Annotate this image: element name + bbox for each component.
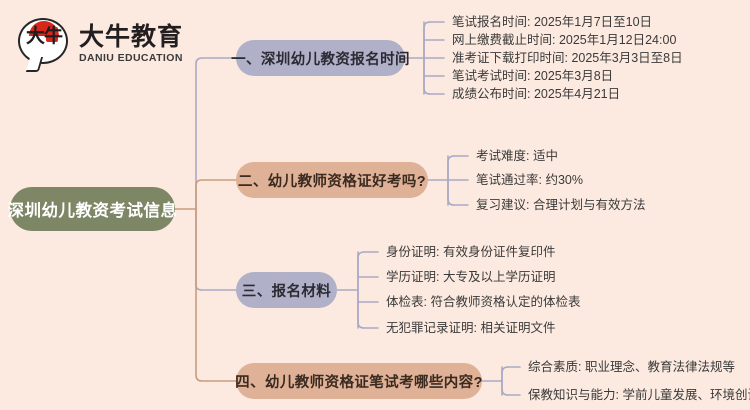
branch-node-1[interactable]: 一、深圳幼儿教资报名时间 [236, 40, 405, 76]
leaf-item: 笔试考试时间: 2025年3月8日 [452, 70, 613, 83]
logo-title: 大牛教育 [79, 24, 183, 50]
bubble-tail-shape [26, 57, 43, 72]
mindmap-canvas: 大牛 大牛教育 DANIU EDUCATION [0, 0, 750, 410]
leaf-item: 无犯罪记录证明: 相关证明文件 [386, 322, 555, 335]
leaf-item: 网上缴费截止时间: 2025年1月12日24:00 [452, 34, 676, 47]
logo-mark-text: 大牛 [24, 29, 64, 59]
leaf-item: 保教知识与能力: 学前儿童发展、环境创设等 [528, 389, 750, 402]
leaf-item: 准考证下载打印时间: 2025年3月3日至8日 [452, 52, 683, 65]
logo-subtitle: DANIU EDUCATION [79, 52, 183, 64]
root-node[interactable]: 深圳幼儿教资考试信息 [10, 187, 175, 231]
leaf-item: 身份证明: 有效身份证件复印件 [386, 246, 555, 259]
leaf-item: 成绩公布时间: 2025年4月21日 [452, 88, 620, 101]
brand-logo: 大牛 大牛教育 DANIU EDUCATION [18, 18, 183, 70]
leaf-item: 学历证明: 大专及以上学历证明 [386, 271, 555, 284]
leaf-item: 笔试通过率: 约30% [476, 174, 583, 187]
logo-wordmark: 大牛教育 DANIU EDUCATION [79, 24, 183, 63]
branch-node-4[interactable]: 四、幼儿教师资格证笔试考哪些内容? [236, 363, 482, 399]
leaf-item: 考试难度: 适中 [476, 150, 558, 163]
branch-node-3[interactable]: 三、报名材料 [236, 272, 337, 308]
leaf-item: 笔试报名时间: 2025年1月7日至10日 [452, 16, 652, 29]
speech-bubble-logo-icon: 大牛 [18, 18, 70, 70]
leaf-item: 体检表: 符合教师资格认定的体检表 [386, 296, 580, 309]
leaf-item: 复习建议: 合理计划与有效方法 [476, 199, 645, 212]
leaf-item: 综合素质: 职业理念、教育法律法规等 [528, 361, 735, 374]
branch-node-2[interactable]: 二、幼儿教师资格证好考吗? [236, 162, 428, 198]
